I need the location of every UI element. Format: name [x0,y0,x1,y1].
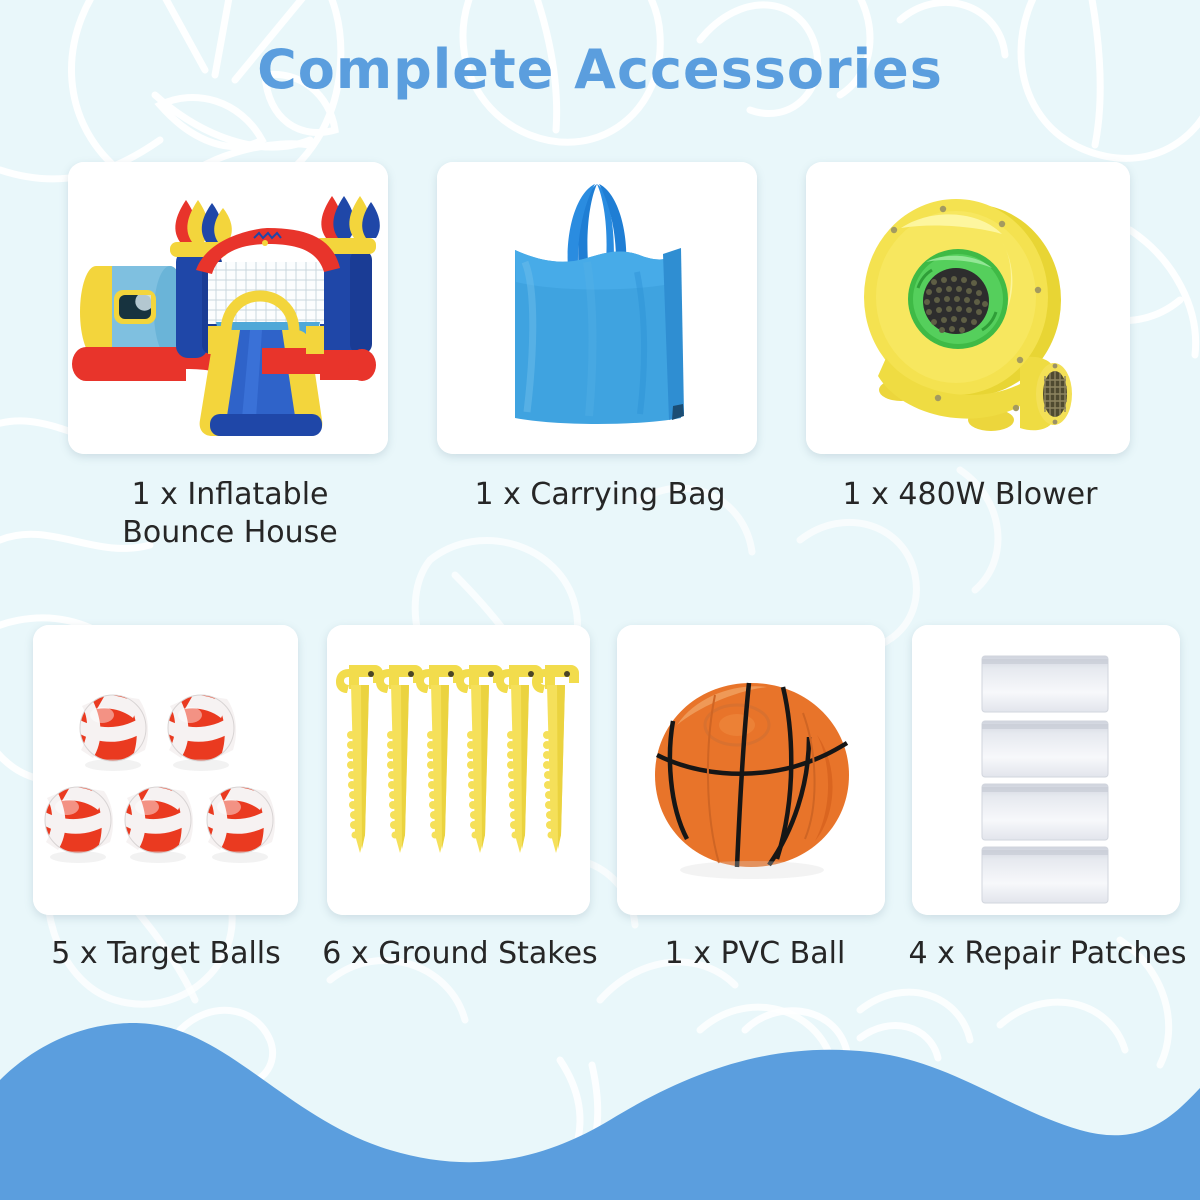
accessory-card-repair-patches[interactable] [912,625,1180,915]
target-balls-image [33,625,298,915]
ground-stakes-image [327,625,590,915]
accessory-card-ground-stakes[interactable] [327,625,590,915]
caption-pvc-ball: 1 x PVC Ball [610,935,900,973]
patch [982,656,1108,712]
caption-ground-stakes: 6 x Ground Stakes [310,935,610,973]
patch [982,721,1108,777]
repair-patches-image [912,625,1180,915]
patch [982,784,1108,840]
accessory-card-pvc-ball[interactable] [617,625,885,915]
carrying-bag-image [437,162,757,454]
accessory-card-carrying-bag[interactable] [437,162,757,454]
patch [982,847,1108,903]
caption-inflatable-bounce-house: 1 x Inflatable Bounce House [60,476,400,552]
accessory-card-target-balls[interactable] [33,625,298,915]
caption-target-balls: 5 x Target Balls [16,935,316,973]
caption-blower: 1 x 480W Blower [800,476,1140,514]
blower-image [806,162,1130,454]
accessory-card-inflatable-bounce-house[interactable] [68,162,388,454]
pvc-ball-image [617,625,885,915]
caption-carrying-bag: 1 x Carrying Bag [430,476,770,514]
accessory-card-blower[interactable] [806,162,1130,454]
bounce-house-image [68,162,388,454]
caption-repair-patches: 4 x Repair Patches [895,935,1200,973]
page-title: Complete Accessories [0,38,1200,101]
